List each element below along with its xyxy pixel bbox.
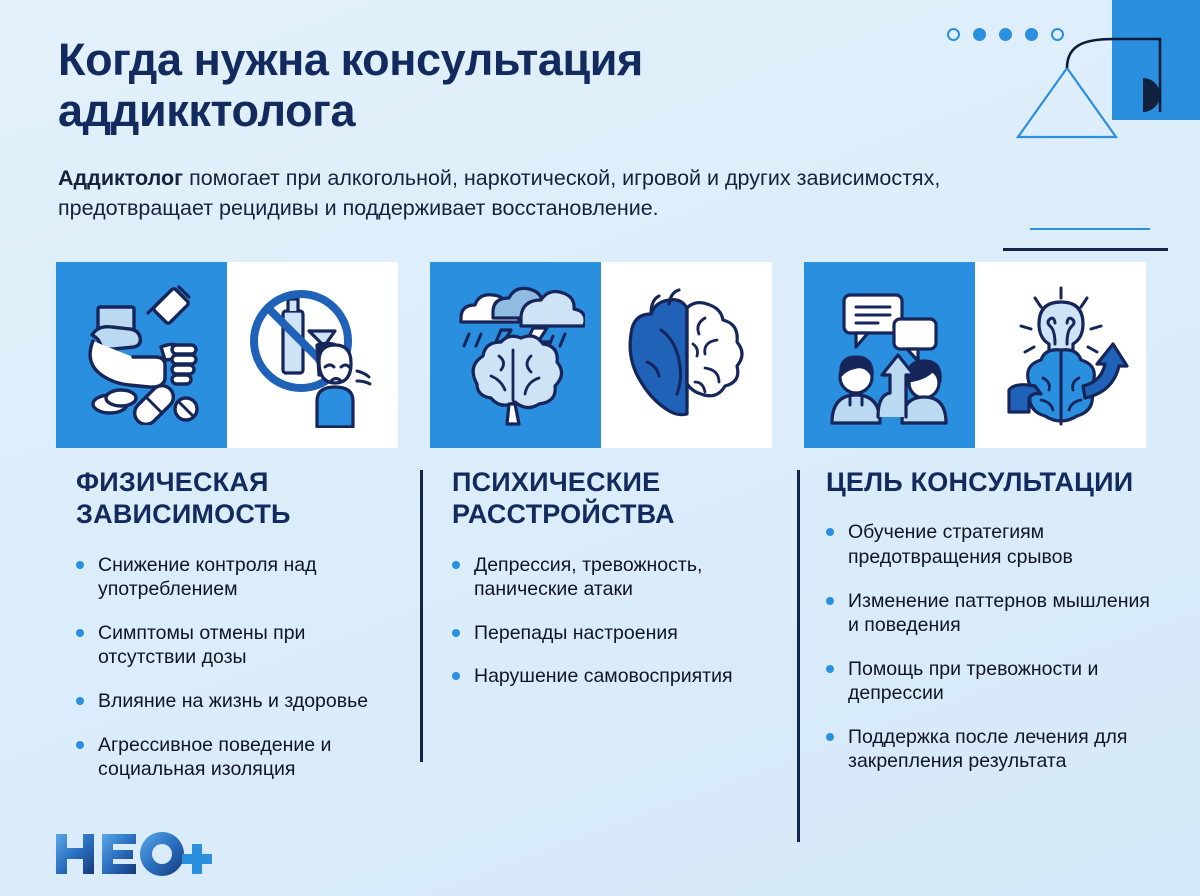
list-item: Депрессия, тревожность, панические атаки	[452, 553, 782, 602]
page-subtitle: Аддиктолог помогает при алкогольной, нар…	[58, 163, 1068, 224]
list-item: Помощь при тревожности и депрессии	[826, 657, 1161, 706]
list-item: Обучение стратегиям предотвращения срыво…	[826, 520, 1161, 569]
column-mental-disorders: ПСИХИЧЕСКИЕ РАССТРОЙСТВА Депрессия, трев…	[452, 466, 782, 708]
subtitle-lead-word: Аддиктолог	[58, 166, 183, 190]
column-heading-goal: ЦЕЛЬ КОНСУЛЬТАЦИИ	[826, 466, 1161, 498]
column-heading-physical: ФИЗИЧЕСКАЯ ЗАВИСИМОСТЬ	[76, 466, 406, 531]
quarter-circle-icon	[1143, 78, 1160, 112]
list-item: Снижение контроля над употреблением	[76, 553, 406, 602]
list-item: Агрессивное поведение и социальная изоля…	[76, 733, 406, 782]
no-alcohol-sign-sad-person-icon	[227, 262, 398, 448]
column-consultation-goal: ЦЕЛЬ КОНСУЛЬТАЦИИ Обучение стратегиям пр…	[826, 466, 1161, 793]
thick-navy-rule-decor	[1003, 248, 1168, 251]
neo-plus-logo-icon	[52, 830, 212, 878]
column-physical-dependence: ФИЗИЧЕСКАЯ ЗАВИСИМОСТЬ Снижение контроля…	[76, 466, 406, 801]
brand-logo	[52, 830, 212, 878]
content-columns: ФИЗИЧЕСКАЯ ЗАВИСИМОСТЬ Снижение контроля…	[0, 466, 1200, 886]
bullet-list-goal: Обучение стратегиям предотвращения срыво…	[826, 520, 1161, 774]
brain-with-storm-clouds-icon	[430, 262, 601, 448]
list-item: Поддержка после лечения для закрепления …	[826, 725, 1161, 774]
illustration-group-mental	[430, 262, 772, 448]
column-heading-mental: ПСИХИЧЕСКИЕ РАССТРОЙСТВА	[452, 466, 782, 531]
heart-brain-split-icon	[601, 262, 772, 448]
two-people-speech-bubbles-arrow-icon	[804, 262, 975, 448]
illustration-group-goal	[804, 262, 1146, 448]
thin-blue-rule-decor	[1030, 228, 1150, 230]
arm-with-syringe-and-pills-icon	[56, 262, 227, 448]
bullet-list-physical: Снижение контроля над употреблением Симп…	[76, 553, 406, 782]
brain-lightbulb-arrows-icon	[975, 262, 1146, 448]
bullet-list-mental: Депрессия, тревожность, панические атаки…	[452, 553, 782, 689]
list-item: Перепады настроения	[452, 621, 782, 646]
page-title: Когда нужна консультация аддикктолога	[58, 34, 818, 137]
header: Когда нужна консультация аддикктолога Ад…	[58, 34, 1068, 224]
illustration-group-physical	[56, 262, 398, 448]
illustration-strip	[0, 262, 1200, 448]
list-item: Нарушение самовосприятия	[452, 664, 782, 689]
subtitle-body: помогает при алкогольной, наркотической,…	[58, 166, 940, 221]
list-item: Изменение паттернов мышления и поведения	[826, 589, 1161, 638]
list-item: Влияние на жизнь и здоровье	[76, 689, 406, 714]
list-item: Симптомы отмены при отсутствии дозы	[76, 621, 406, 670]
